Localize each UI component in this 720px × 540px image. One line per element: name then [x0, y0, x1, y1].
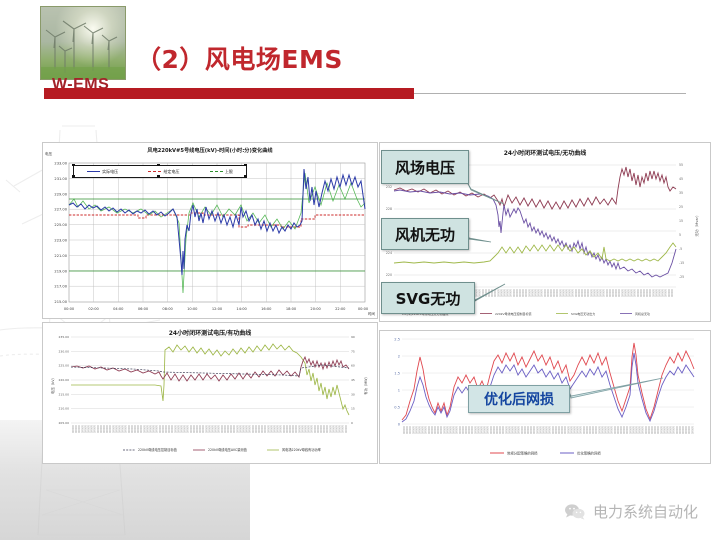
selection-handle[interactable]: [157, 164, 160, 167]
svg-text:75: 75: [351, 349, 355, 353]
svg-text:210.00: 210.00: [59, 407, 70, 411]
callout-optimized-loss-label: 优化后网损: [484, 389, 554, 409]
xaxis-dense-ticks-bottom-left: 0:00:000:00:000:00:000:00:000:00:000:00:…: [71, 425, 349, 443]
svg-text:220kV母线电压控制目标值: 220kV母线电压控制目标值: [138, 447, 178, 452]
legend-label-setpoint: 给定电压: [163, 169, 179, 175]
legend-item-setpoint-voltage: 给定电压: [148, 169, 179, 175]
svg-text:45: 45: [679, 177, 683, 181]
selection-handle[interactable]: [157, 175, 160, 178]
legend-label-limit: 上限: [225, 169, 233, 175]
svg-text:14:00: 14:00: [236, 307, 247, 311]
svg-text:2.5: 2.5: [394, 338, 400, 342]
svg-text:电压（kV）: 电压（kV）: [50, 376, 55, 394]
svg-text:-15: -15: [679, 261, 684, 265]
svg-text:224: 224: [386, 251, 392, 255]
svg-text:227.00: 227.00: [54, 208, 67, 212]
svg-text:08:00: 08:00: [162, 307, 173, 311]
legend-top-left: 实际电压 给定电压 上限: [73, 165, 247, 178]
legend-label-actual: 实际电压: [102, 169, 118, 175]
wind-farm-thumbnail: [40, 6, 126, 80]
svg-text:1.5: 1.5: [394, 372, 400, 376]
svg-text:风机总无功: 风机总无功: [635, 311, 650, 316]
legend-swatch-setpoint: [148, 171, 161, 172]
svg-text:02:00: 02:00: [88, 307, 99, 311]
selection-handle[interactable]: [244, 164, 247, 167]
svg-text:04:00: 04:00: [113, 307, 124, 311]
selection-handle[interactable]: [72, 164, 75, 167]
svg-text:16:00: 16:00: [261, 307, 272, 311]
svg-text:223.00: 223.00: [54, 239, 67, 243]
svg-text:221.00: 221.00: [54, 254, 67, 258]
svg-text:15: 15: [351, 407, 355, 411]
svg-text:12:00: 12:00: [212, 307, 223, 311]
legend-swatch-actual: [87, 171, 100, 172]
chart-panel-voltage-active: 24小时闭环测试电压/有功曲线 235.00230.00225.00 220.0…: [42, 322, 378, 464]
callout-svg-reactive[interactable]: SVG无功: [381, 282, 475, 314]
legend-swatch-limit: [210, 171, 223, 172]
wechat-account-name: 电力系统自动化: [593, 501, 698, 522]
selection-handle[interactable]: [244, 175, 247, 178]
selection-handle[interactable]: [72, 175, 75, 178]
callout-farm-voltage-label: 风场电压: [395, 157, 455, 178]
svg-text:217.00: 217.00: [54, 285, 67, 289]
svg-text:00:00: 00:00: [358, 307, 369, 311]
svg-text:SVG电压无功出力: SVG电压无功出力: [571, 311, 595, 316]
svg-text:215.00: 215.00: [59, 392, 70, 396]
slide-header: W-EMS （2）风电场EMS: [0, 0, 720, 110]
svg-text:231.00: 231.00: [54, 177, 67, 181]
svg-text:229.00: 229.00: [54, 192, 67, 196]
svg-text:22:00: 22:00: [335, 307, 346, 311]
svg-text:5: 5: [679, 233, 681, 237]
svg-text:228: 228: [386, 207, 392, 211]
svg-text:220kV母线电压控制目标值: 220kV母线电压控制目标值: [495, 311, 532, 316]
svg-text:0.5: 0.5: [394, 406, 400, 410]
svg-text:225.00: 225.00: [54, 223, 67, 227]
svg-text:230.00: 230.00: [59, 349, 70, 353]
svg-text:232: 232: [386, 185, 392, 189]
svg-text:55: 55: [679, 163, 683, 167]
svg-text:90: 90: [351, 335, 355, 339]
svg-text:18:00: 18:00: [286, 307, 297, 311]
svg-text:2: 2: [398, 355, 400, 359]
svg-text:20:00: 20:00: [310, 307, 321, 311]
slide: W-EMS （2）风电场EMS 风电220kV#5号线电压(kV)-时间(小时:…: [0, 0, 720, 540]
svg-text:有功（MW）: 有功（MW）: [363, 375, 368, 395]
svg-text:06:00: 06:00: [138, 307, 149, 311]
legend-item-upper-limit: 上限: [210, 169, 233, 175]
svg-text:25: 25: [679, 205, 683, 209]
svg-text:45: 45: [351, 378, 355, 382]
svg-text:215.00: 215.00: [54, 300, 67, 304]
wechat-footer: 电力系统自动化: [564, 501, 698, 522]
svg-text:风电场220kV母线有功功率: 风电场220kV母线有功功率: [282, 447, 322, 452]
callout-optimized-loss[interactable]: 优化后网损: [468, 385, 570, 413]
legend-item-actual-voltage: 实际电压: [87, 169, 118, 175]
svg-text:1: 1: [398, 389, 400, 393]
svg-text:205.00: 205.00: [59, 421, 70, 425]
svg-text:220kV母线电压AVC量测值: 220kV母线电压AVC量测值: [208, 447, 248, 452]
svg-text:优化策略的网损: 优化策略的网损: [577, 450, 601, 455]
callout-turbine-reactive-label: 风机无功: [395, 224, 455, 245]
page-title: （2）风电场EMS: [136, 40, 343, 76]
svg-text:-5: -5: [679, 247, 682, 251]
svg-text:15: 15: [679, 219, 683, 223]
svg-text:10:00: 10:00: [187, 307, 198, 311]
chart-panel-voltage-time: 风电220kV#5号线电压(kV)-时间(小时:分)变化曲线 电压 时间: [42, 142, 378, 319]
svg-text:60: 60: [351, 364, 355, 368]
callout-svg-reactive-label: SVG无功: [396, 288, 461, 309]
svg-text:235.00: 235.00: [59, 335, 70, 339]
svg-text:233.00: 233.00: [54, 162, 67, 166]
svg-text:-25: -25: [679, 275, 684, 279]
svg-text:30: 30: [351, 392, 355, 396]
callout-farm-voltage[interactable]: 风场电压: [381, 150, 469, 184]
svg-text:220: 220: [386, 273, 392, 277]
header-rule: [414, 93, 686, 94]
svg-text:无功（Mvar）: 无功（Mvar）: [694, 213, 699, 236]
svg-text:00:00: 00:00: [64, 307, 75, 311]
header-red-bar: [44, 88, 414, 99]
svg-text:219.00: 219.00: [54, 269, 67, 273]
svg-text:225.00: 225.00: [59, 364, 70, 368]
svg-text:35: 35: [679, 191, 683, 195]
xaxis-dense-ticks-bottom-right: 0:00:000:00:000:00:000:00:000:00:000:00:…: [402, 426, 694, 444]
svg-text:220.00: 220.00: [59, 378, 70, 382]
wechat-icon: [564, 503, 586, 521]
svg-text:0: 0: [398, 423, 401, 427]
callout-turbine-reactive[interactable]: 风机无功: [381, 218, 469, 250]
svg-text:常规分配策略的网损: 常规分配策略的网损: [507, 450, 538, 455]
svg-text:0: 0: [351, 421, 353, 425]
